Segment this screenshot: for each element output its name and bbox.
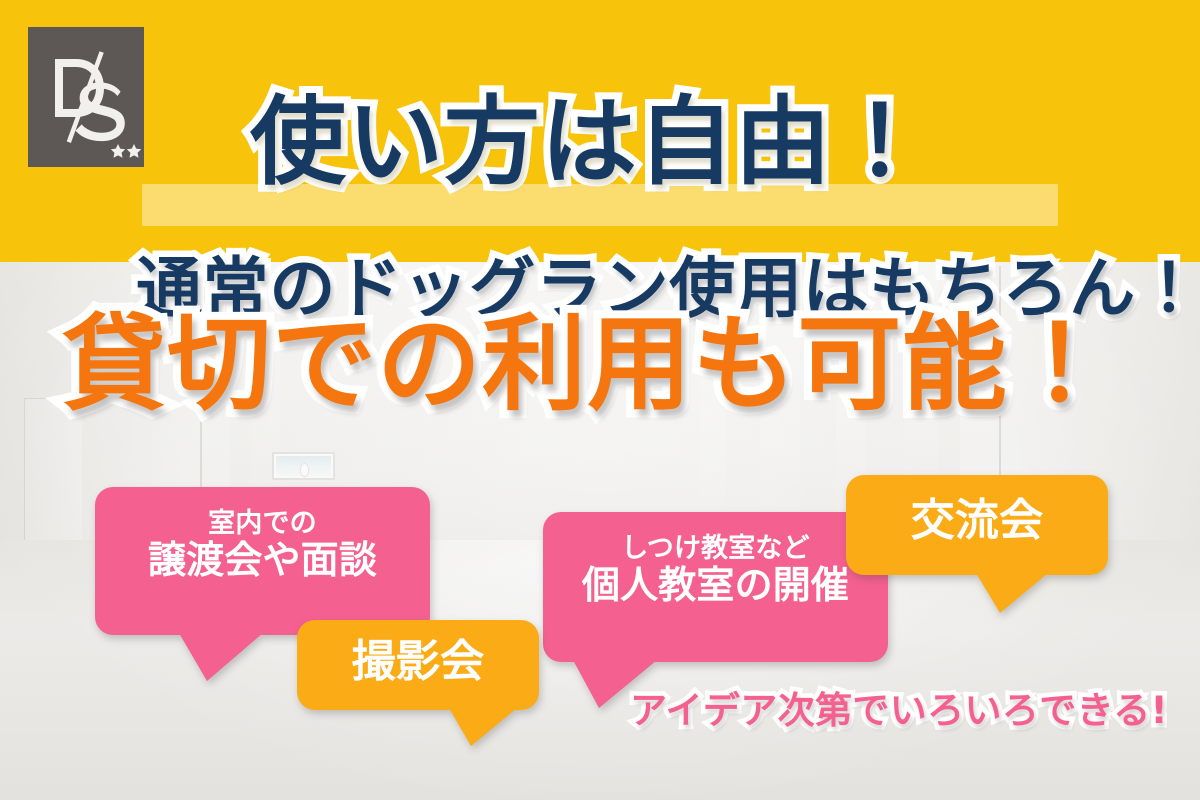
tagline: アイデア次第でいろいろできる! [630, 692, 1168, 729]
bubble-tail [976, 573, 1048, 613]
bubble-subtext: 室内での [95, 509, 430, 539]
bubble-photo-session[interactable]: 撮影会 [297, 620, 539, 710]
bubble-meetup[interactable]: 交流会 [846, 475, 1108, 575]
ds-logo[interactable] [28, 27, 144, 167]
bubble-tail [179, 633, 263, 681]
bubble-maintext: 譲渡会や面談 [95, 539, 430, 582]
bubble-maintext: 個人教室の開催 [543, 564, 888, 607]
subheadline-line2: 貸切での利用も可能！ [62, 312, 1112, 416]
poster-canvas: 使い方は自由！ 通常のドッグラン使用はもちろん！ 貸切での利用も可能！ 室内での… [0, 0, 1200, 800]
bubble-maintext: 撮影会 [297, 640, 539, 684]
bubble-adoption-event[interactable]: 室内での 譲渡会や面談 [95, 487, 430, 635]
bubble-maintext: 交流会 [846, 499, 1108, 543]
page-title: 使い方は自由！ [250, 94, 929, 190]
header-banner: 使い方は自由！ [0, 0, 1200, 262]
bubble-tail [573, 660, 657, 708]
bubble-private-class[interactable]: しつけ教室など 個人教室の開催 [543, 512, 888, 662]
bubble-subtext: しつけ教室など [543, 534, 888, 564]
bubble-tail [449, 708, 517, 746]
